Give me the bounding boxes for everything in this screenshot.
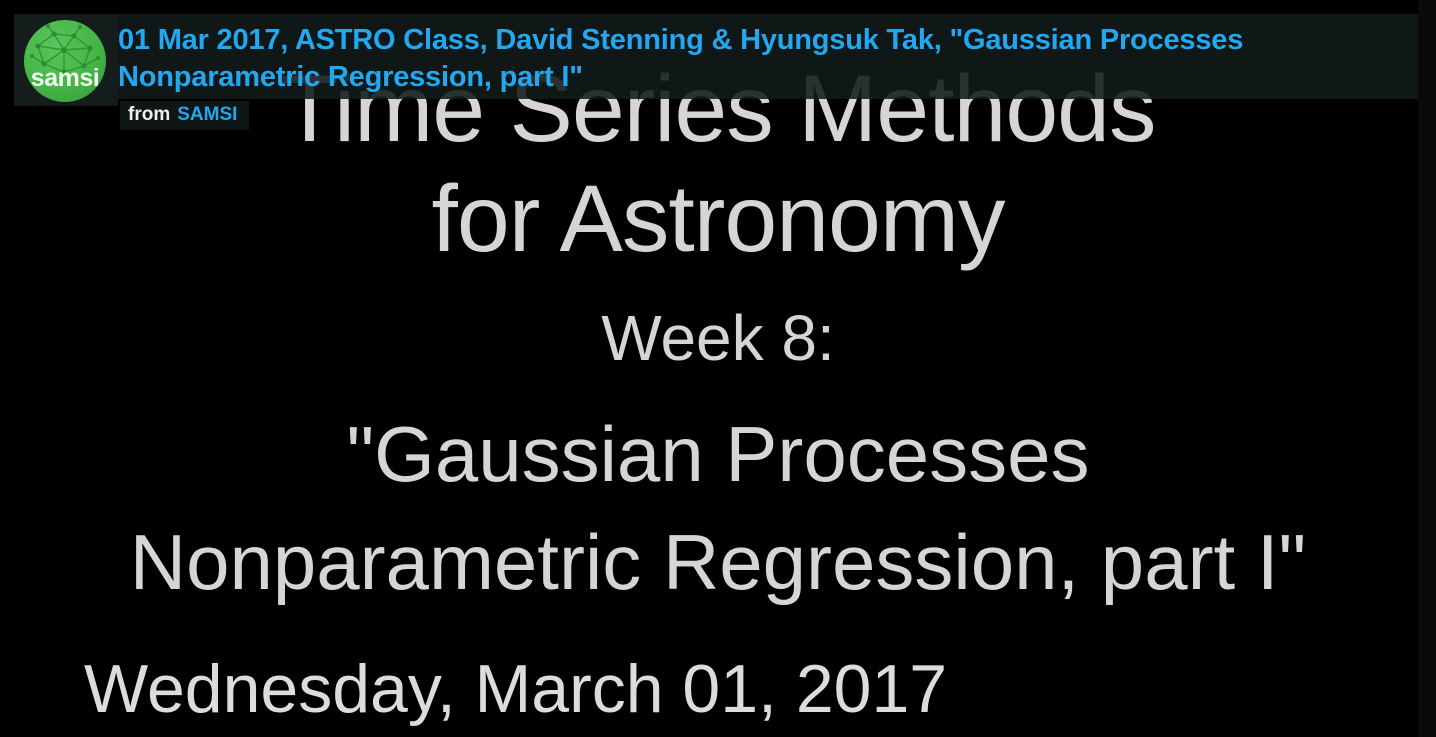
slide-week-label: Week 8: (0, 306, 1436, 370)
slide-date: Wednesday, March 01, 2017 (0, 655, 947, 723)
slide-topic-line-2: Nonparametric Regression, part I" (0, 523, 1436, 601)
slide-title-line-2: for Astronomy (0, 172, 1436, 267)
attribution-prefix: from (128, 104, 170, 125)
samsi-logo[interactable]: samsi (14, 14, 118, 106)
video-player-screen: Time Series Methods for Astronomy Week 8… (0, 0, 1436, 737)
slide-topic-line-1: "Gaussian Processes (0, 415, 1436, 493)
overlay-attribution: fromSAMSI (120, 101, 249, 130)
logo-circle: samsi (24, 20, 106, 102)
attribution-brand-link[interactable]: SAMSI (177, 104, 237, 125)
video-title-overlay: samsi 01 Mar 2017, ASTRO Class, David St… (14, 14, 1418, 99)
overlay-title-text[interactable]: 01 Mar 2017, ASTRO Class, David Stenning… (118, 22, 1408, 96)
logo-wordmark: samsi (24, 66, 106, 91)
